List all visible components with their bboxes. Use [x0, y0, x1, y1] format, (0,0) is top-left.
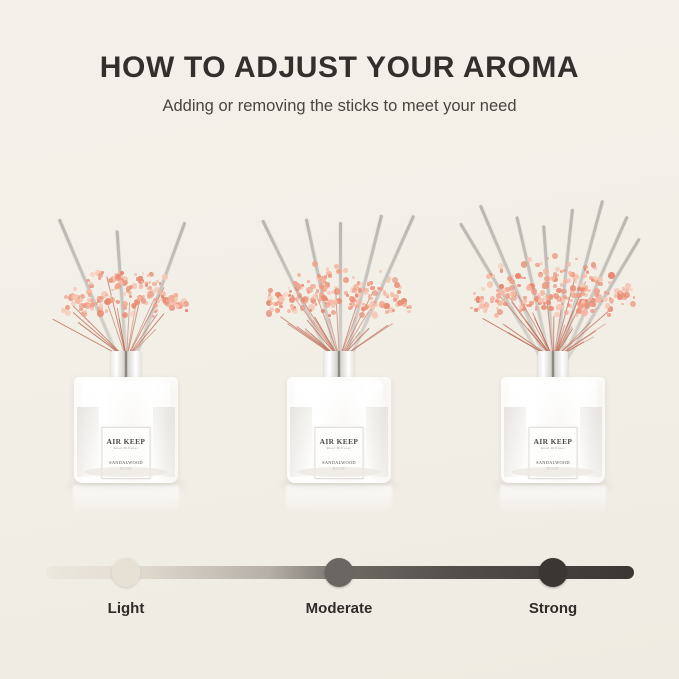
flower-blossom	[372, 290, 378, 296]
flower-blossom	[319, 276, 326, 283]
diffuser-strong: AIR KEEP Reed Diffuser SANDALWOOD ROSE	[446, 165, 660, 515]
flower-blossom	[474, 308, 478, 312]
flower-blossom	[515, 273, 521, 279]
flower-blossom	[517, 284, 521, 288]
flower-blossom	[550, 276, 555, 281]
flower-blossom	[324, 286, 328, 290]
flower-blossom	[111, 289, 114, 292]
dried-flowers-strong	[446, 243, 660, 363]
flower-blossom	[503, 302, 508, 307]
flower-blossom	[279, 305, 283, 309]
flower-blossom	[490, 299, 494, 303]
flower-blossom	[328, 314, 331, 317]
flower-blossom	[300, 305, 306, 311]
flower-blossom	[269, 307, 274, 312]
flower-blossom	[141, 281, 144, 284]
flower-blossom	[385, 310, 389, 314]
flower-blossom	[310, 284, 316, 290]
flower-blossom	[269, 298, 272, 301]
flower-blossom	[543, 268, 549, 274]
label-brand: AIR KEEP	[316, 438, 363, 446]
flower-blossom	[386, 280, 390, 284]
flower-blossom	[139, 284, 144, 289]
flower-blossom	[73, 287, 78, 292]
flower-blossom	[147, 291, 154, 298]
flower-blossom	[356, 299, 361, 304]
flower-blossom	[486, 274, 491, 279]
flower-blossom	[587, 289, 591, 293]
flower-blossom	[367, 282, 371, 286]
flower-blossom	[589, 276, 593, 280]
flower-blossom	[291, 295, 294, 298]
flower-blossom	[598, 282, 602, 286]
flower-blossom	[174, 297, 178, 301]
flower-blossom	[495, 299, 499, 303]
flower-blossom	[116, 300, 120, 304]
flower-blossom	[307, 280, 310, 283]
flower-blossom	[358, 288, 362, 292]
flower-blossom	[397, 290, 401, 294]
flower-blossom	[541, 305, 547, 311]
flower-blossom	[270, 302, 273, 305]
flower-blossom	[566, 262, 571, 267]
flower-blossom	[84, 310, 87, 313]
flower-blossom	[355, 294, 358, 297]
flower-blossom	[152, 315, 155, 318]
flower-blossom	[65, 310, 71, 316]
flower-blossom	[71, 301, 76, 306]
bottle-bevel-left	[77, 407, 99, 477]
flower-blossom	[519, 309, 522, 312]
flower-blossom	[390, 292, 395, 297]
bottle-reflection	[286, 485, 392, 515]
flower-blossom	[144, 281, 147, 284]
flower-blossom	[185, 309, 188, 312]
slider-label-strong: Strong	[529, 600, 577, 617]
flower-blossom	[181, 303, 186, 308]
flower-blossom	[134, 273, 137, 276]
flower-blossom	[507, 276, 512, 281]
flower-blossom	[509, 290, 515, 296]
dried-flowers-light	[19, 243, 233, 363]
flower-blossom	[492, 274, 496, 278]
flower-blossom	[575, 258, 578, 261]
bottle-body: AIR KEEP Reed Diffuser SANDALWOOD ROSE	[501, 377, 605, 483]
flower-blossom	[544, 276, 549, 281]
flower-blossom	[343, 268, 348, 273]
flower-blossom	[80, 294, 85, 299]
flower-blossom	[394, 282, 400, 288]
flower-blossom	[542, 285, 546, 289]
bottle-bevel-left	[504, 407, 526, 477]
flower-blossom	[549, 296, 553, 300]
flower-blossom	[148, 281, 151, 284]
flower-blossom	[577, 293, 580, 296]
flower-blossom	[473, 292, 477, 296]
flower-blossom	[80, 299, 83, 302]
flower-blossom	[293, 281, 298, 286]
flower-blossom	[315, 294, 318, 297]
flower-blossom	[275, 302, 279, 306]
flower-blossom	[633, 296, 636, 299]
flower-blossom	[123, 292, 127, 296]
flower-blossom	[295, 297, 299, 301]
flower-blossom	[142, 272, 145, 275]
bottle-bevel-right	[366, 407, 388, 477]
flower-blossom	[497, 309, 504, 316]
flower-blossom	[578, 303, 584, 309]
label-brand: AIR KEEP	[103, 438, 150, 446]
bottle-reflection	[73, 485, 179, 515]
flower-blossom	[579, 282, 585, 288]
diffuser-bottle: AIR KEEP Reed Diffuser SANDALWOOD ROSE	[501, 351, 605, 487]
flower-blossom	[123, 280, 129, 286]
flower-blossom	[584, 293, 588, 297]
flower-blossom	[548, 306, 554, 312]
flower-blossom	[105, 309, 109, 313]
flower-blossom	[487, 281, 493, 287]
slider-label-moderate: Moderate	[306, 600, 373, 617]
flower-blossom	[101, 291, 108, 298]
bottle-bevel-right	[153, 407, 175, 477]
flower-blossom	[570, 285, 576, 291]
flower-blossom	[408, 305, 412, 309]
flower-blossom	[539, 262, 542, 265]
intensity-slider[interactable]: Light Moderate Strong	[0, 552, 679, 632]
flower-blossom	[136, 277, 139, 280]
flower-blossom	[355, 304, 359, 308]
label-scent-line2: ROSE	[530, 466, 577, 472]
flower-blossom	[328, 274, 332, 278]
label-tagline: Reed Diffuser	[316, 446, 363, 451]
flower-blossom	[331, 310, 336, 315]
flower-blossom	[147, 274, 150, 277]
flower-blossom	[159, 282, 162, 285]
flower-blossom	[531, 288, 537, 294]
flower-blossom	[105, 298, 111, 304]
label-brand: AIR KEEP	[530, 438, 577, 446]
flower-blossom	[523, 277, 526, 280]
flower-blossom	[570, 299, 573, 302]
flower-blossom	[630, 301, 636, 307]
flower-blossom	[563, 269, 566, 272]
bottle-body: AIR KEEP Reed Diffuser SANDALWOOD ROSE	[74, 377, 178, 483]
flower-blossom	[90, 272, 95, 277]
flower-blossom	[564, 310, 569, 315]
flower-blossom	[623, 294, 626, 297]
flower-blossom	[581, 292, 585, 296]
bottle-bevel-right	[580, 407, 602, 477]
flower-blossom	[115, 283, 121, 289]
flower-blossom	[64, 295, 68, 299]
flower-blossom	[358, 293, 363, 298]
label-scent-line2: ROSE	[316, 466, 363, 472]
bottle-body: AIR KEEP Reed Diffuser SANDALWOOD ROSE	[287, 377, 391, 483]
flower-blossom	[331, 305, 335, 309]
flower-blossom	[407, 310, 411, 314]
flower-blossom	[554, 312, 559, 317]
flower-blossom	[343, 277, 349, 283]
label-tagline: Reed Diffuser	[103, 446, 150, 451]
flower-blossom	[592, 303, 596, 307]
flower-blossom	[321, 309, 326, 314]
flower-blossom	[89, 282, 93, 286]
flower-blossom	[292, 308, 298, 314]
flower-blossom	[278, 296, 285, 303]
flower-blossom	[312, 261, 318, 267]
flower-blossom	[275, 308, 279, 312]
flower-blossom	[581, 309, 587, 315]
flower-blossom	[374, 303, 379, 308]
slider-knob-moderate[interactable]	[325, 558, 354, 587]
flower-blossom	[574, 280, 578, 284]
flower-blossom	[502, 288, 507, 293]
flower-blossom	[101, 300, 104, 303]
flower-blossom	[484, 307, 488, 311]
flower-blossom	[595, 308, 598, 311]
flower-blossom	[82, 303, 87, 308]
bottle-bevel-left	[290, 407, 312, 477]
flower-blossom	[591, 309, 595, 313]
flower-blossom	[546, 257, 549, 260]
label-tagline: Reed Diffuser	[530, 446, 577, 451]
infographic-canvas: HOW TO ADJUST YOUR AROMA Adding or remov…	[0, 0, 679, 679]
flower-blossom	[607, 313, 611, 317]
flower-blossom	[315, 303, 318, 306]
flower-blossom	[392, 309, 395, 312]
flower-blossom	[500, 269, 504, 273]
flower-blossom	[561, 289, 567, 295]
flower-blossom	[336, 269, 341, 274]
flower-blossom	[141, 298, 147, 304]
flower-blossom	[608, 281, 611, 284]
flower-blossom	[575, 313, 579, 317]
flower-blossom	[538, 273, 544, 279]
flower-blossom	[610, 300, 614, 304]
flower-blossom	[115, 274, 121, 280]
flower-blossom	[162, 274, 168, 280]
flower-blossom	[69, 294, 73, 298]
flower-blossom	[496, 293, 502, 299]
diffuser-moderate: AIR KEEP Reed Diffuser SANDALWOOD ROSE	[232, 165, 446, 515]
bottle-label: AIR KEEP Reed Diffuser SANDALWOOD ROSE	[529, 427, 578, 479]
flower-blossom	[289, 290, 293, 294]
flower-blossom	[586, 271, 589, 274]
flower-blossom	[352, 276, 355, 279]
flower-blossom	[522, 299, 527, 304]
flower-blossom	[371, 311, 377, 317]
flower-blossom	[359, 312, 365, 318]
bottle-label: AIR KEEP Reed Diffuser SANDALWOOD ROSE	[102, 427, 151, 479]
flower-blossom	[88, 293, 92, 297]
flower-blossom	[268, 293, 271, 296]
flower-blossom	[61, 308, 66, 313]
flower-blossom	[555, 267, 560, 272]
flower-blossom	[603, 297, 608, 302]
flower-blossom	[97, 310, 104, 317]
flower-blossom	[513, 283, 516, 286]
flower-blossom	[334, 288, 341, 295]
flower-blossom	[352, 288, 356, 292]
flower-blossom	[470, 307, 473, 310]
slider-knob-strong[interactable]	[539, 558, 568, 587]
flower-blossom	[595, 297, 601, 303]
flower-blossom	[567, 297, 570, 300]
flower-blossom	[101, 271, 104, 274]
slider-knob-light[interactable]	[112, 558, 141, 587]
flower-blossom	[99, 303, 104, 308]
flower-blossom	[548, 282, 551, 285]
flower-blossom	[289, 297, 295, 303]
flower-blossom	[608, 292, 610, 294]
flower-blossom	[503, 299, 506, 302]
flower-blossom	[95, 302, 98, 305]
flower-blossom	[287, 309, 291, 313]
flower-blossom	[582, 274, 587, 279]
flower-blossom	[309, 309, 312, 312]
flower-blossom	[122, 301, 129, 308]
flower-blossom	[527, 257, 532, 262]
bottle-label: AIR KEEP Reed Diffuser SANDALWOOD ROSE	[315, 427, 364, 479]
flower-blossom	[327, 291, 331, 295]
dried-flowers-moderate	[232, 243, 446, 363]
flower-blossom	[79, 308, 83, 312]
flower-blossom	[540, 290, 546, 296]
flower-blossom	[333, 300, 338, 305]
label-scent-line2: ROSE	[103, 466, 150, 472]
flower-blossom	[604, 291, 607, 294]
flower-blossom	[385, 293, 389, 297]
flower-blossom	[535, 306, 538, 309]
flower-blossom	[567, 278, 571, 282]
flower-blossom	[129, 295, 132, 298]
flower-blossom	[86, 279, 90, 283]
flower-blossom	[560, 283, 564, 287]
flower-blossom	[556, 304, 563, 311]
flower-blossom	[619, 290, 623, 294]
flower-blossom	[571, 293, 577, 299]
flower-blossom	[608, 272, 615, 279]
flower-blossom	[297, 273, 302, 278]
flower-blossom	[349, 296, 355, 302]
flower-blossom	[521, 261, 528, 268]
flower-blossom	[359, 282, 364, 287]
flower-blossom	[379, 301, 386, 308]
flower-blossom	[379, 270, 383, 274]
flower-blossom	[552, 253, 558, 259]
diffuser-light: AIR KEEP Reed Diffuser SANDALWOOD ROSE	[19, 165, 233, 515]
flower-blossom	[546, 300, 551, 305]
flower-blossom	[621, 303, 624, 306]
flower-blossom	[153, 303, 158, 308]
slider-label-light: Light	[108, 600, 145, 617]
diffuser-bottle: AIR KEEP Reed Diffuser SANDALWOOD ROSE	[74, 351, 178, 487]
flower-blossom	[529, 304, 532, 307]
flower-blossom	[481, 287, 485, 291]
flower-blossom	[318, 299, 321, 302]
bottle-reflection	[500, 485, 606, 515]
flower-blossom	[154, 311, 157, 314]
diffuser-bottle: AIR KEEP Reed Diffuser SANDALWOOD ROSE	[287, 351, 391, 487]
